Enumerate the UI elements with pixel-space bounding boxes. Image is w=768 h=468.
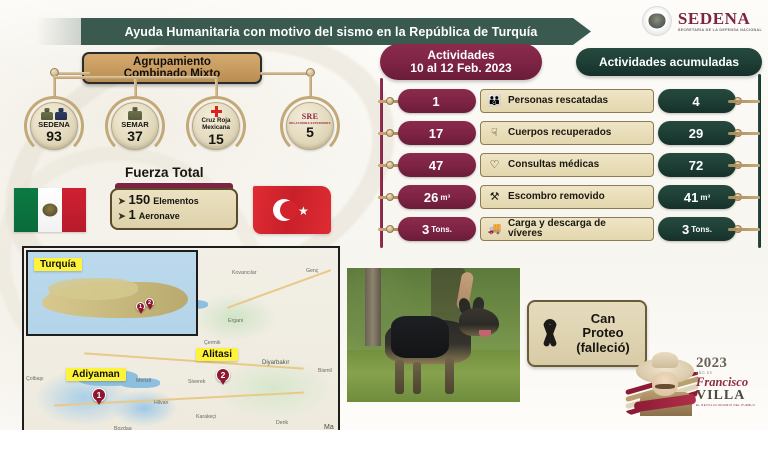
footer-logo-text: 2023 AÑO DE Francisco VILLA EL REVOLUCIO…: [696, 356, 762, 407]
table-row[interactable]: 26 m³ ⚒ Escombro removido 41 m³: [372, 184, 764, 210]
map-town-label: Kovancılar: [232, 270, 257, 276]
map-town-label: Genç: [306, 268, 318, 274]
map-town-label: Diyarbakır: [262, 360, 289, 366]
accumulated-value: 3: [682, 222, 689, 237]
map-inset-marker-2[interactable]: 2: [145, 298, 154, 307]
map-panel[interactable]: Kovancılar Genç Ergani Çermik Diyarbakır…: [22, 246, 340, 436]
org-node-sre[interactable]: SRE RELACIONES EXTERIORES 5: [280, 96, 340, 156]
sedena-logo: SEDENA SECRETARÍA DE LA DEFENSA NACIONAL: [642, 6, 762, 36]
header-ribbon-tail: [36, 18, 84, 45]
table-row[interactable]: 3 Tons. 🚚 Carga y descarga de víveres 3 …: [372, 216, 764, 242]
org-title-line1: Agrupamiento: [133, 56, 211, 68]
fuerza-total-box: ➤ 150 Elementos ➤ 1 Aeronave: [110, 188, 238, 230]
map-town-label: Siverek: [188, 379, 205, 385]
accumulated-value-pill: 29: [658, 121, 736, 145]
star-icon: ★: [298, 205, 309, 217]
row-bead-left: [386, 193, 394, 201]
org-node-value: 37: [127, 129, 143, 143]
photo-tree: [365, 268, 381, 346]
sedena-logo-subtitle: SECRETARÍA DE LA DEFENSA NACIONAL: [678, 29, 762, 33]
period-value-pill: 26 m³: [398, 185, 476, 209]
map-marker-1[interactable]: 1: [92, 388, 106, 402]
memorial-line1: Can: [567, 312, 639, 327]
accumulated-value: 4: [692, 94, 699, 109]
footer-year: 2023: [696, 356, 762, 371]
dog-leg: [445, 358, 454, 394]
activity-label-line2: víveres: [508, 228, 542, 239]
activity-label: Escombro removido: [508, 192, 605, 203]
org-title-line2: Combinado Mixto: [124, 68, 220, 80]
memorial-line2: Proteo: [567, 326, 639, 341]
node-disc: SRE RELACIONES EXTERIORES 5: [286, 102, 334, 150]
period-value: 26: [424, 190, 438, 205]
chevron-right-icon: ➤: [118, 196, 126, 206]
row-connector-right: [728, 132, 760, 135]
row-bead-left: [386, 129, 394, 137]
memorial-line3: (falleció): [567, 341, 639, 356]
activity-label-box: 🚚 Carga y descarga de víveres: [480, 217, 654, 241]
bottom-white-band: [0, 430, 768, 468]
row-connector-right: [728, 228, 760, 231]
map-town-label: Derik: [276, 420, 288, 426]
fuerza-total-title: Fuerza Total: [125, 165, 204, 180]
activity-label-box: 👪 Personas rescatadas: [480, 89, 654, 113]
activity-label: Cuerpos recuperados: [508, 128, 611, 139]
rescue-dog-photo: [347, 268, 520, 402]
node-disc: Cruz Roja Mexicana 15: [192, 102, 240, 150]
org-node-value: 93: [46, 129, 62, 143]
fuerza-total-item: ➤ 150 Elementos: [118, 193, 231, 208]
activity-label-wrap: Carga y descarga de víveres: [508, 219, 606, 240]
stem-cruzroja: [215, 76, 218, 98]
connector-right: [260, 72, 312, 75]
org-node-label: SRE: [289, 113, 330, 121]
cargo-truck-icon: 🚚: [486, 222, 503, 237]
map-town-label: Çolbaşı: [26, 376, 44, 382]
mexico-flag-icon: [14, 188, 86, 232]
map-location-label-alitasi: Alitasi: [196, 348, 238, 361]
black-mourning-ribbon-icon: [539, 317, 561, 351]
header-bar: Ayuda Humanitaria con motivo del sismo e…: [18, 18, 668, 45]
org-node-label: SEMAR: [121, 121, 148, 129]
map-inset-turkey[interactable]: Turquía 1 2: [26, 250, 198, 336]
map-location-label-adiyaman: Adiyaman: [66, 368, 126, 381]
map-marker-2[interactable]: 2: [216, 368, 230, 382]
fuerza-total-value: 1: [129, 208, 136, 223]
activity-label-box: ⚒ Escombro removido: [480, 185, 654, 209]
turkey-landmass-highlight: [48, 278, 138, 300]
activity-label: Carga y descarga de: [508, 218, 606, 229]
org-node-label2: Mexicana: [202, 125, 230, 131]
memorial-card: Can Proteo (falleció): [527, 300, 647, 367]
period-value-pill: 1: [398, 89, 476, 113]
activities-period-header: Actividades 10 al 12 Feb. 2023: [380, 44, 542, 80]
army-uniform-icon: [41, 109, 67, 120]
org-node-value: 15: [208, 132, 224, 146]
fuerza-total-value: 150: [129, 193, 151, 208]
footer-name-line2: VILLA: [696, 389, 762, 402]
row-connector-right: [728, 164, 760, 167]
table-row[interactable]: 17 ☟ Cuerpos recuperados 29: [372, 120, 764, 146]
stem-semar: [134, 76, 137, 98]
stem-sedena: [53, 76, 56, 98]
francisco-villa-logo: 2023 AÑO DE Francisco VILLA EL REVOLUCIO…: [630, 354, 764, 416]
fuerza-total-item: ➤ 1 Aeronave: [118, 208, 231, 223]
memorial-text: Can Proteo (falleció): [567, 312, 645, 356]
dog-tongue: [479, 330, 491, 337]
villa-moustache: [655, 384, 675, 389]
activities-period-line2: 10 al 12 Feb. 2023: [410, 62, 511, 75]
accumulated-value: 41: [684, 190, 698, 205]
sedena-logo-text: SEDENA SECRETARÍA DE LA DEFENSA NACIONAL: [678, 10, 762, 33]
node-disc: SEMAR 37: [111, 102, 159, 150]
page-title: Ayuda Humanitaria con motivo del sismo e…: [81, 18, 591, 45]
crescent-icon: [273, 199, 295, 221]
map-inset-label: Turquía: [34, 258, 82, 271]
pickaxe-shovel-icon: ⚒: [486, 190, 503, 205]
dog-leg: [395, 360, 404, 394]
sedena-logo-name: SEDENA: [678, 10, 762, 27]
fuerza-total-unit: Aeronave: [139, 211, 180, 221]
map-town-label: Menzil: [136, 378, 151, 384]
connector-left: [54, 72, 90, 75]
navy-uniform-icon: [128, 109, 142, 120]
org-node-cruz-roja[interactable]: Cruz Roja Mexicana 15: [186, 96, 246, 156]
accumulated-value: 72: [689, 158, 703, 173]
period-value: 47: [429, 158, 443, 173]
map-inset-marker-1[interactable]: 1: [136, 302, 145, 311]
connector-bus: [53, 76, 217, 79]
stem-sre: [309, 76, 312, 98]
turkey-flag-icon: ★: [253, 186, 331, 234]
red-cross-icon: [211, 106, 222, 117]
activities-table: Actividades 10 al 12 Feb. 2023 Actividad…: [372, 44, 764, 254]
period-value: 17: [429, 126, 443, 141]
row-connector-right: [728, 100, 760, 103]
period-value-pill: 17: [398, 121, 476, 145]
accumulated-value: 29: [689, 126, 703, 141]
accumulated-unit: m³: [700, 193, 710, 202]
accumulated-unit: Tons.: [691, 225, 712, 234]
map-town-label: Bismil: [318, 368, 332, 374]
org-chart: Agrupamiento Combinado Mixto SEDENA 93 S…: [20, 52, 350, 162]
accumulated-value-pill: 4: [658, 89, 736, 113]
period-value: 3: [422, 222, 429, 237]
sre-logo-icon: SRE RELACIONES EXTERIORES: [289, 113, 330, 125]
accumulated-value-pill: 72: [658, 153, 736, 177]
period-value-pill: 3 Tons.: [398, 217, 476, 241]
dog-tactical-vest: [391, 316, 449, 358]
fuerza-total-unit: Elementos: [153, 196, 199, 206]
node-disc: SEDENA 93: [30, 102, 78, 150]
org-chart-title: Agrupamiento Combinado Mixto: [82, 52, 262, 84]
row-bead-left: [386, 97, 394, 105]
dog-leg: [413, 362, 421, 394]
org-node-value: 5: [306, 125, 314, 139]
footer-subtitle: EL REVOLUCIONARIO DEL PUEBLO: [696, 404, 762, 407]
row-connector-right: [728, 196, 760, 199]
row-bead-left: [386, 225, 394, 233]
org-node-sedena[interactable]: SEDENA 93: [24, 96, 84, 156]
accumulated-value-pill: 3 Tons.: [658, 217, 736, 241]
map-town-label: Karakeçi: [196, 414, 216, 420]
slide-canvas: Ayuda Humanitaria con motivo del sismo e…: [0, 0, 768, 468]
chevron-right-icon: ➤: [118, 211, 126, 221]
org-node-semar[interactable]: SEMAR 37: [105, 96, 165, 156]
activity-label: Personas rescatadas: [508, 96, 608, 107]
map-town-label: Çermik: [204, 340, 220, 346]
rescue-stretcher-icon: 👪: [486, 94, 503, 109]
accumulated-value-pill: 41 m³: [658, 185, 736, 209]
activities-accumulated-header: Actividades acumuladas: [576, 48, 762, 76]
period-unit: m³: [440, 193, 450, 202]
period-value: 1: [432, 94, 439, 109]
mexican-eagle-seal-icon: [642, 6, 672, 36]
body-recovery-icon: ☟: [486, 126, 503, 141]
period-unit: Tons.: [431, 225, 452, 234]
org-node-label: SEDENA: [38, 121, 70, 129]
villa-hat-crown: [652, 352, 678, 368]
row-bead-left: [386, 161, 394, 169]
activity-label-box: ♡ Consultas médicas: [480, 153, 654, 177]
table-row[interactable]: 47 ♡ Consultas médicas 72: [372, 152, 764, 178]
map-town-label: Hilvan: [154, 400, 168, 406]
stethoscope-heart-icon: ♡: [486, 158, 503, 173]
activity-label: Consultas médicas: [508, 160, 599, 171]
period-value-pill: 47: [398, 153, 476, 177]
activity-label-box: ☟ Cuerpos recuperados: [480, 121, 654, 145]
map-town-label: Ergani: [228, 318, 243, 324]
table-row[interactable]: 1 👪 Personas rescatadas 4: [372, 88, 764, 114]
